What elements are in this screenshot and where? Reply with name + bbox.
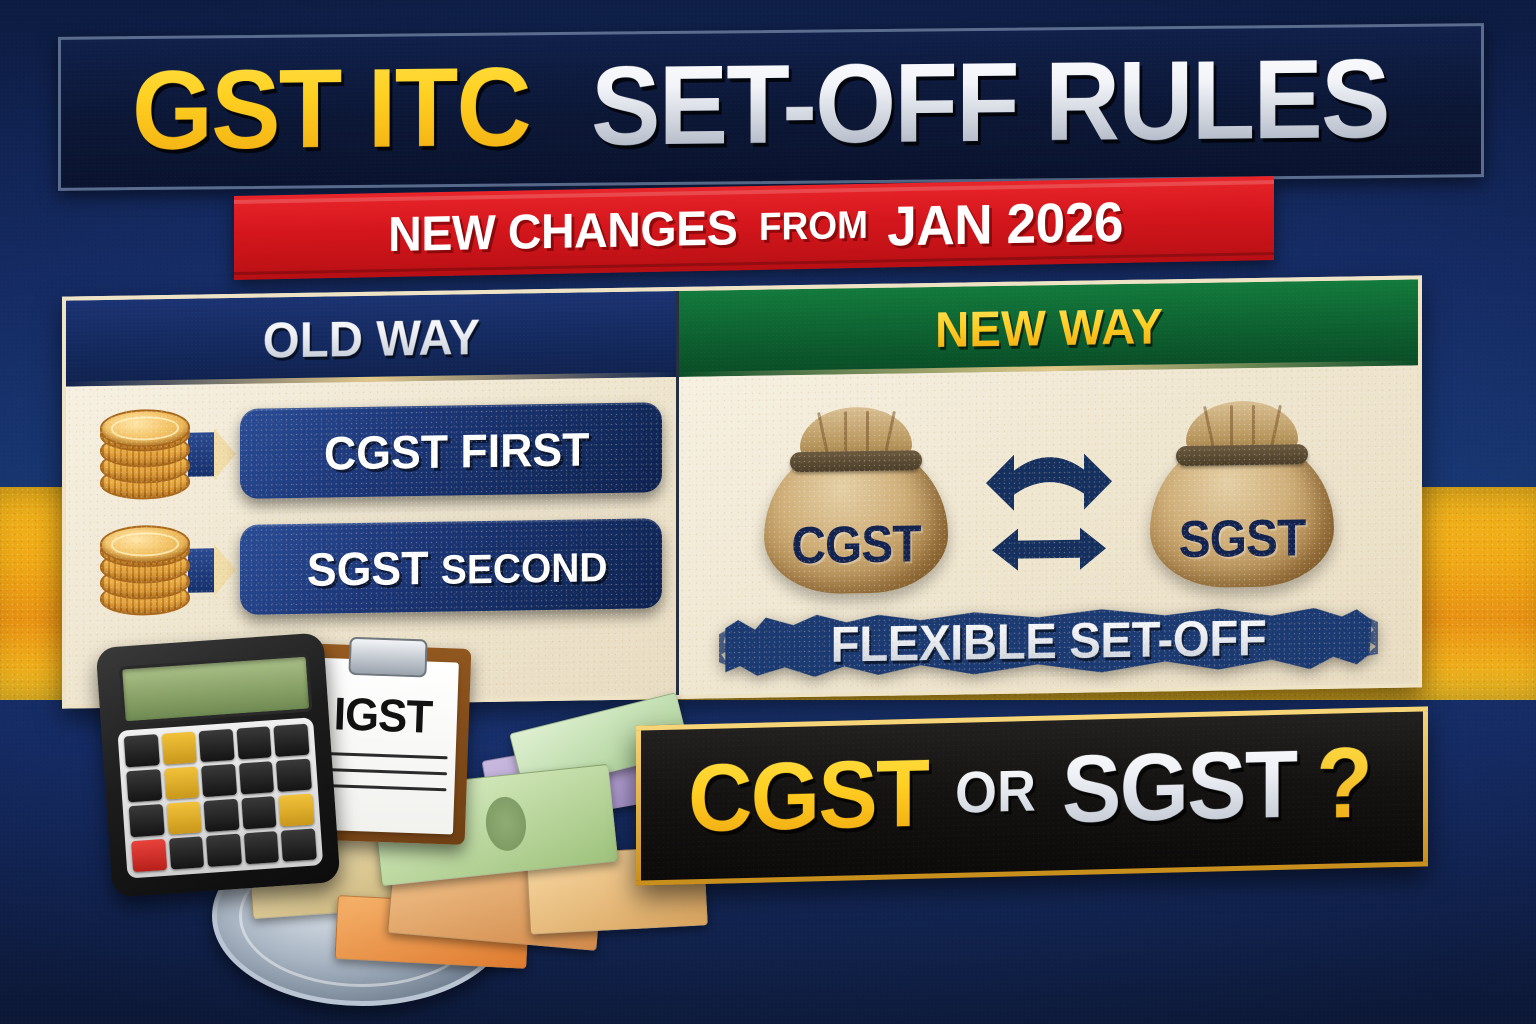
finance-illustration: IGST xyxy=(96,636,676,996)
flexible-setoff-banner: FLEXIBLE SET-OFF xyxy=(719,598,1378,684)
old-way-header: OLD WAY xyxy=(66,291,676,387)
subtitle-text: NEW CHANGES FROM JAN 2026 xyxy=(234,176,1274,280)
old-way-pill-sgst-label: SGST SECOND xyxy=(307,537,608,597)
money-bag-sgst: SGST xyxy=(1142,392,1342,595)
connector-bar xyxy=(188,432,214,476)
calculator-keys xyxy=(117,717,323,878)
calculator-icon xyxy=(96,632,341,897)
old-way-row-cgst: CGST FIRST xyxy=(94,401,662,502)
page-title: GST ITC SET-OFF RULES xyxy=(58,23,1478,185)
money-bag-cgst-label: CGST xyxy=(764,514,948,577)
calculator-screen xyxy=(119,653,313,724)
flexible-setoff-label: FLEXIBLE SET-OFF xyxy=(735,598,1361,684)
arrow-right-icon xyxy=(214,544,258,597)
new-way-heading: NEW WAY xyxy=(935,297,1163,359)
money-bag-sgst-label: SGST xyxy=(1150,508,1334,571)
subtitle-from: FROM xyxy=(759,204,868,250)
connector-bar xyxy=(188,548,214,592)
bottom-banner-or: OR xyxy=(955,757,1036,826)
old-way-pill-sgst[interactable]: SGST SECOND xyxy=(240,518,662,615)
panel-new-way: NEW WAY CGST xyxy=(679,279,1418,695)
subtitle-lead: NEW CHANGES xyxy=(388,200,737,263)
old-way-pill-cgst[interactable]: CGST FIRST xyxy=(240,402,662,499)
title-silver-text: SET-OFF RULES xyxy=(591,34,1389,171)
money-bag-cgst: CGST xyxy=(756,398,956,601)
bottom-banner-question-mark: ? xyxy=(1316,725,1373,841)
arrow-right-icon xyxy=(214,428,258,481)
old-way-pill-cgst-label: CGST FIRST xyxy=(324,421,589,480)
bidirectional-arrows-icon xyxy=(974,403,1124,590)
coin-stack-icon xyxy=(94,525,192,619)
bottom-banner-silver: SGST xyxy=(1061,729,1297,845)
title-gold-text: GST ITC xyxy=(132,42,530,175)
coin-stack-icon xyxy=(94,409,192,503)
old-way-row-sgst: SGST SECOND xyxy=(94,517,662,618)
clip-metal-icon xyxy=(348,637,427,678)
subtitle-date: JAN 2026 xyxy=(887,188,1123,258)
bottom-banner-gold: CGST xyxy=(688,738,929,854)
money-bags-group: CGST SGST xyxy=(679,375,1418,617)
new-way-header: NEW WAY xyxy=(679,279,1418,377)
new-way-body: CGST SGST xyxy=(679,365,1418,695)
infographic-canvas: GST ITC SET-OFF RULES NEW CHANGES FROM J… xyxy=(0,0,1536,1024)
old-way-heading: OLD WAY xyxy=(262,308,479,369)
bottom-banner-text: CGST OR SGST ? xyxy=(636,706,1418,875)
